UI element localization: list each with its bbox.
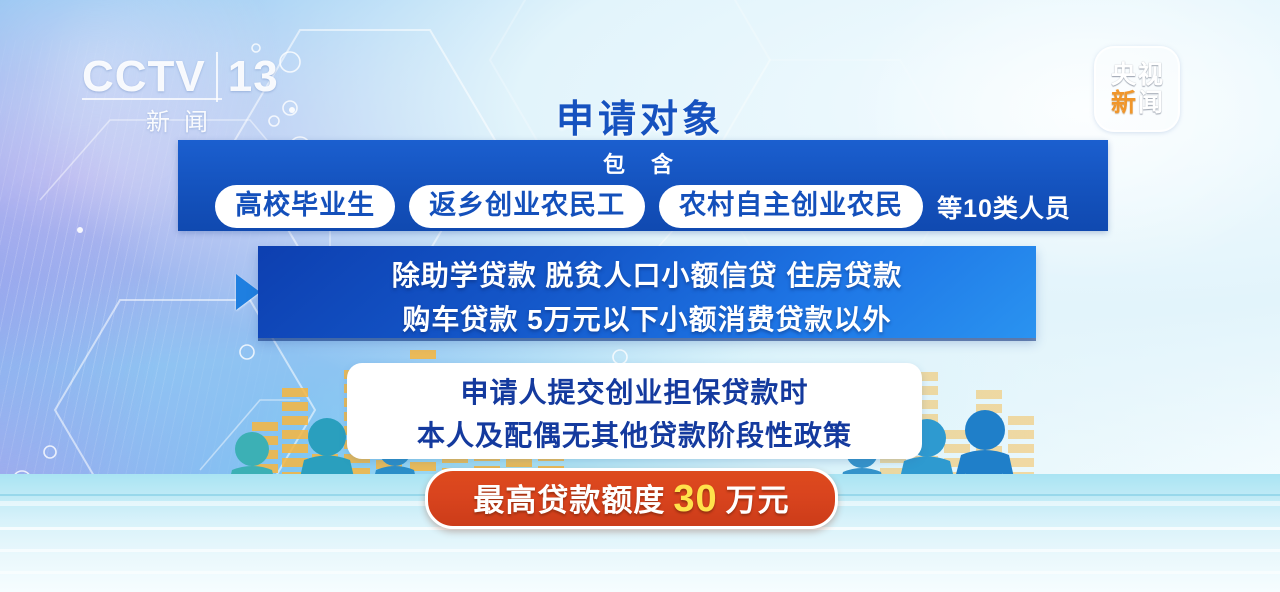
loan-badge-text: 最高贷款额度 30 万元 <box>473 480 789 518</box>
panel-policy: 申请人提交创业担保贷款时 本人及配偶无其他贷款阶段性政策 <box>347 363 922 459</box>
panel-exclude-wrapper: 除助学贷款 脱贫人口小额信贷 住房贷款 购车贷款 5万元以下小额消费贷款以外 <box>236 246 1036 344</box>
panel-include-pill-row: 高校毕业生 返乡创业农民工 农村自主创业农民 等10类人员 <box>178 185 1108 228</box>
loan-badge-amount: 30 <box>669 480 721 518</box>
news-badge-char-shi: 视 <box>1138 63 1163 88</box>
list-item: 农村自主创业农民 <box>659 185 923 228</box>
loan-badge-unit: 万元 <box>726 485 790 516</box>
panel-include: 包 含 高校毕业生 返乡创业农民工 农村自主创业农民 等10类人员 <box>178 140 1108 231</box>
status-badge: 最高贷款额度 30 万元 <box>425 468 838 529</box>
news-badge-char-yang: 央 <box>1111 63 1136 88</box>
panel-exclude-line2: 购车贷款 5万元以下小额消费贷款以外 <box>258 298 1036 338</box>
news-badge-row-top: 央 视 <box>1111 63 1163 88</box>
broadcast-graphic: CCTV 13 新闻 央 视 新 闻 申请对象 包 含 高校毕业生 返乡创业农民… <box>0 0 1280 592</box>
loan-badge-prefix: 最高贷款额度 <box>473 485 665 516</box>
panel-exclude-line1: 除助学贷款 脱贫人口小额信贷 住房贷款 <box>258 254 1036 294</box>
list-item: 高校毕业生 <box>215 185 395 228</box>
panel-policy-line2: 本人及配偶无其他贷款阶段性政策 <box>347 414 922 454</box>
page-title: 申请对象 <box>0 88 1280 143</box>
panel-exclude: 除助学贷款 脱贫人口小额信贷 住房贷款 购车贷款 5万元以下小额消费贷款以外 <box>258 246 1036 338</box>
panel-include-label: 包 含 <box>178 147 1108 179</box>
triangle-arrow-icon <box>236 274 260 310</box>
panel-policy-line1: 申请人提交创业担保贷款时 <box>347 371 922 411</box>
list-item: 返乡创业农民工 <box>409 185 645 228</box>
panel-include-tail: 等10类人员 <box>937 189 1071 225</box>
